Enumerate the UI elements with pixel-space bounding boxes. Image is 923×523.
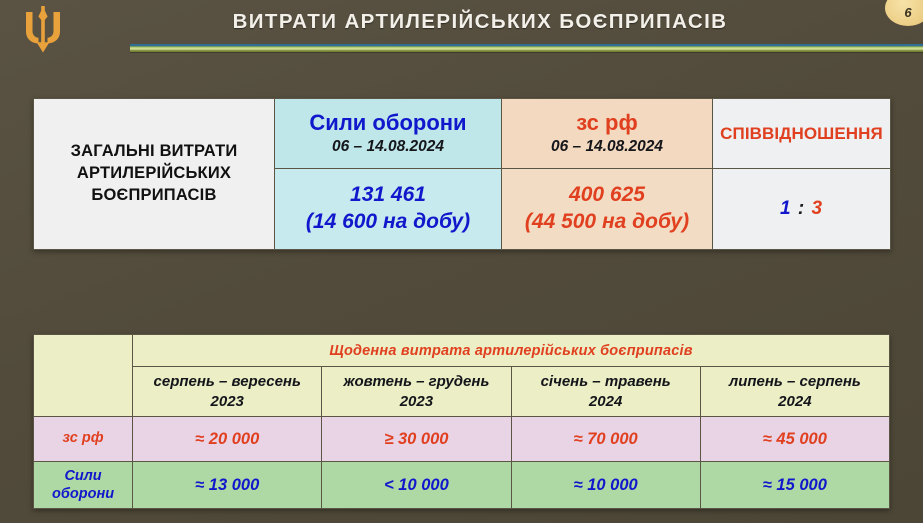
row-label-line: оборони (34, 485, 132, 503)
period-range: січень – травень (512, 372, 700, 392)
row-label-line: Сили (34, 467, 132, 485)
period-header-3: січень – травень 2024 (511, 367, 700, 417)
period-range: серпень – вересень (133, 372, 321, 392)
column-header-defense-forces: Сили оборони 06 – 14.08.2024 (275, 99, 502, 169)
row-label-defense-forces: Сили оборони (34, 462, 133, 509)
rf-daily-value-4: ≈ 45 000 (700, 417, 889, 462)
totals-table: ЗАГАЛЬНІ ВИТРАТИ АРТИЛЕРІЙСЬКИХ БОЄПРИПА… (33, 98, 891, 250)
row-label-rf-forces: зс рф (34, 417, 133, 462)
title-divider (130, 44, 923, 52)
rf-daily-value-2: ≥ 30 000 (322, 417, 511, 462)
page-number-badge: 6 (885, 0, 923, 26)
totals-row-label: ЗАГАЛЬНІ ВИТРАТИ АРТИЛЕРІЙСЬКИХ БОЄПРИПА… (34, 99, 275, 250)
ratio-left-value: 1 (780, 198, 792, 219)
period-year: 2024 (512, 392, 700, 412)
table-row: серпень – вересень 2023 жовтень – груден… (34, 367, 890, 417)
slide-header: ВИТРАТИ АРТИЛЕРІЙСЬКИХ БОЄПРИПАСІВ 6 (0, 0, 923, 58)
rf-forces-total: 400 625 (502, 182, 712, 209)
period-header-2: жовтень – грудень 2023 (322, 367, 511, 417)
ratio-header-label: СПІВВІДНОШЕННЯ (713, 124, 890, 144)
daily-table-corner (34, 335, 133, 417)
defense-forces-total: 131 461 (275, 182, 501, 209)
ukraine-trident-icon (20, 4, 66, 56)
ua-daily-value-1: ≈ 13 000 (133, 462, 322, 509)
daily-consumption-table: Щоденна витрата артилерійських боєприпас… (33, 334, 890, 509)
period-year: 2023 (133, 392, 321, 412)
column-header-ratio: СПІВВІДНОШЕННЯ (713, 99, 891, 169)
defense-forces-per-day: (14 600 на добу) (275, 209, 501, 236)
period-year: 2023 (322, 392, 510, 412)
defense-forces-period: 06 – 14.08.2024 (275, 138, 501, 157)
page-title: ВИТРАТИ АРТИЛЕРІЙСЬКИХ БОЄПРИПАСІВ (130, 10, 830, 34)
rf-forces-per-day: (44 500 на добу) (502, 209, 712, 236)
rf-daily-value-3: ≈ 70 000 (511, 417, 700, 462)
table-row: ЗАГАЛЬНІ ВИТРАТИ АРТИЛЕРІЙСЬКИХ БОЄПРИПА… (34, 99, 891, 169)
rf-forces-period: 06 – 14.08.2024 (502, 138, 712, 157)
slide-canvas: ВИТРАТИ АРТИЛЕРІЙСЬКИХ БОЄПРИПАСІВ 6 ЗАГ… (0, 0, 923, 523)
period-year: 2024 (701, 392, 889, 412)
ua-daily-value-4: ≈ 15 000 (700, 462, 889, 509)
defense-forces-name: Сили оборони (275, 110, 501, 135)
ua-daily-value-2: < 10 000 (322, 462, 511, 509)
ratio-value-cell: 1 : 3 (713, 168, 891, 249)
ratio-right-value: 3 (811, 198, 823, 219)
period-header-4: липень – серпень 2024 (700, 367, 889, 417)
period-range: жовтень – грудень (322, 372, 510, 392)
defense-forces-total-cell: 131 461 (14 600 на добу) (275, 168, 502, 249)
ratio-separator: : (798, 198, 805, 219)
ua-daily-value-3: ≈ 10 000 (511, 462, 700, 509)
table-row: Щоденна витрата артилерійських боєприпас… (34, 335, 890, 367)
column-header-rf-forces: зс рф 06 – 14.08.2024 (502, 99, 713, 169)
rf-forces-name: зс рф (502, 110, 712, 135)
period-header-1: серпень – вересень 2023 (133, 367, 322, 417)
period-range: липень – серпень (701, 372, 889, 392)
table-row-defense-forces: Сили оборони ≈ 13 000 < 10 000 ≈ 10 000 … (34, 462, 890, 509)
rf-forces-total-cell: 400 625 (44 500 на добу) (502, 168, 713, 249)
daily-span-header: Щоденна витрата артилерійських боєприпас… (133, 335, 890, 367)
table-row-rf-forces: зс рф ≈ 20 000 ≥ 30 000 ≈ 70 000 ≈ 45 00… (34, 417, 890, 462)
rf-daily-value-1: ≈ 20 000 (133, 417, 322, 462)
